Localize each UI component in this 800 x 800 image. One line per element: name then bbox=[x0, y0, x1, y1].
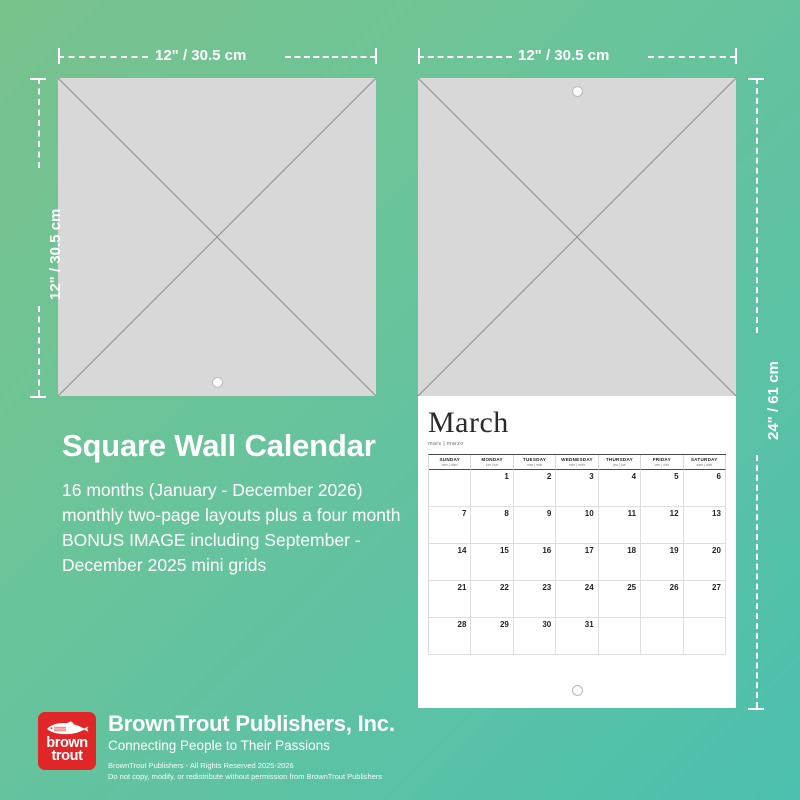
day-cell: 4 bbox=[599, 470, 641, 507]
day-cell bbox=[429, 470, 471, 507]
day-cell: 16 bbox=[514, 544, 556, 581]
weekday-header-thursday: THURSDAY jeu | jue bbox=[599, 455, 641, 470]
weekday-header-tuesday: TUESDAY mar | mar bbox=[514, 455, 556, 470]
hole-punch-icon bbox=[572, 685, 583, 696]
day-cell: 9 bbox=[514, 507, 556, 544]
day-cell: 1 bbox=[471, 470, 513, 507]
calendar-cover-panel-left bbox=[58, 78, 376, 396]
month-title: March bbox=[428, 408, 726, 438]
dimension-tick bbox=[30, 396, 46, 398]
day-cell: 15 bbox=[471, 544, 513, 581]
day-cell: 11 bbox=[599, 507, 641, 544]
day-cell: 14 bbox=[429, 544, 471, 581]
day-cell: 25 bbox=[599, 581, 641, 618]
dimension-tick bbox=[748, 708, 764, 710]
day-cell: 8 bbox=[471, 507, 513, 544]
browntrout-logo: brown trout bbox=[38, 712, 96, 770]
week-row: 28 29 30 31 bbox=[429, 618, 726, 655]
weekday-header-sunday: SUNDAY dim | dom bbox=[429, 455, 471, 470]
brand-name: BrownTrout Publishers, Inc. bbox=[108, 712, 395, 736]
day-cell: 29 bbox=[471, 618, 513, 655]
week-row: 21 22 23 24 25 26 27 bbox=[429, 581, 726, 618]
brand-tagline: Connecting People to Their Passions bbox=[108, 736, 395, 756]
month-subtitle: mars | marzo bbox=[428, 441, 726, 447]
weekday-header-wednesday: WEDNESDAY mer | miér bbox=[556, 455, 598, 470]
day-cell: 12 bbox=[641, 507, 683, 544]
day-cell: 24 bbox=[556, 581, 598, 618]
weekday-header-saturday: SATURDAY sam | sáb bbox=[684, 455, 726, 470]
day-cell: 10 bbox=[556, 507, 598, 544]
calendar-grid-page: March mars | marzo SUNDAY dim | dom MOND… bbox=[418, 396, 736, 708]
day-cell: 26 bbox=[641, 581, 683, 618]
dimension-line bbox=[648, 56, 736, 58]
dimension-label-left-height: 12" / 30.5 cm bbox=[47, 209, 64, 300]
week-row: 7 8 9 10 11 12 13 bbox=[429, 507, 726, 544]
day-cell: 17 bbox=[556, 544, 598, 581]
day-cell bbox=[599, 618, 641, 655]
day-cell: 27 bbox=[684, 581, 726, 618]
dimension-line bbox=[38, 78, 40, 168]
day-cell bbox=[684, 618, 726, 655]
placeholder-cross-icon bbox=[418, 78, 736, 396]
weekday-header-row: SUNDAY dim | dom MONDAY lun | lun TUESDA… bbox=[429, 455, 726, 470]
product-description: 16 months (January - December 2026) mont… bbox=[62, 478, 412, 578]
dimension-line bbox=[58, 56, 148, 58]
weekday-header-monday: MONDAY lun | lun bbox=[471, 455, 513, 470]
day-cell: 21 bbox=[429, 581, 471, 618]
week-row: 14 15 16 17 18 19 20 bbox=[429, 544, 726, 581]
day-cell: 22 bbox=[471, 581, 513, 618]
dimension-label-right-height: 24" / 61 cm bbox=[765, 361, 782, 440]
weekday-header-friday: FRIDAY ven | vier bbox=[641, 455, 683, 470]
dimension-line bbox=[285, 56, 376, 58]
day-cell: 13 bbox=[684, 507, 726, 544]
dimension-label-top-left: 12" / 30.5 cm bbox=[155, 47, 246, 64]
day-cell: 5 bbox=[641, 470, 683, 507]
hole-punch-icon bbox=[572, 86, 583, 97]
day-cell: 23 bbox=[514, 581, 556, 618]
dimension-line bbox=[756, 455, 758, 708]
day-cell: 20 bbox=[684, 544, 726, 581]
legal-line-1: BrownTrout Publishers - All Rights Reser… bbox=[108, 761, 395, 772]
day-cell: 28 bbox=[429, 618, 471, 655]
legal-notice: BrownTrout Publishers - All Rights Reser… bbox=[108, 761, 395, 783]
logo-word-trout: trout bbox=[51, 750, 82, 763]
day-cell: 3 bbox=[556, 470, 598, 507]
month-grid: SUNDAY dim | dom MONDAY lun | lun TUESDA… bbox=[428, 454, 726, 655]
dimension-label-top-right: 12" / 30.5 cm bbox=[518, 47, 609, 64]
day-cell bbox=[641, 618, 683, 655]
day-cell: 19 bbox=[641, 544, 683, 581]
page-title: Square Wall Calendar bbox=[62, 428, 376, 464]
week-row: 1 2 3 4 5 6 bbox=[429, 470, 726, 507]
product-mockup-canvas: March mars | marzo SUNDAY dim | dom MOND… bbox=[0, 0, 800, 800]
calendar-cover-panel-right bbox=[418, 78, 736, 396]
legal-line-2: Do not copy, modify, or redistribute wit… bbox=[108, 772, 395, 783]
hole-punch-icon bbox=[212, 377, 223, 388]
placeholder-cross-icon bbox=[58, 78, 376, 396]
day-cell: 2 bbox=[514, 470, 556, 507]
day-cell: 31 bbox=[556, 618, 598, 655]
dimension-line bbox=[418, 56, 512, 58]
day-cell: 18 bbox=[599, 544, 641, 581]
dimension-line bbox=[38, 306, 40, 396]
footer-text-block: BrownTrout Publishers, Inc. Connecting P… bbox=[108, 712, 395, 783]
footer-branding: brown trout BrownTrout Publishers, Inc. … bbox=[38, 712, 395, 783]
day-cell: 7 bbox=[429, 507, 471, 544]
day-cell: 6 bbox=[684, 470, 726, 507]
day-cell: 30 bbox=[514, 618, 556, 655]
dimension-line bbox=[756, 78, 758, 333]
